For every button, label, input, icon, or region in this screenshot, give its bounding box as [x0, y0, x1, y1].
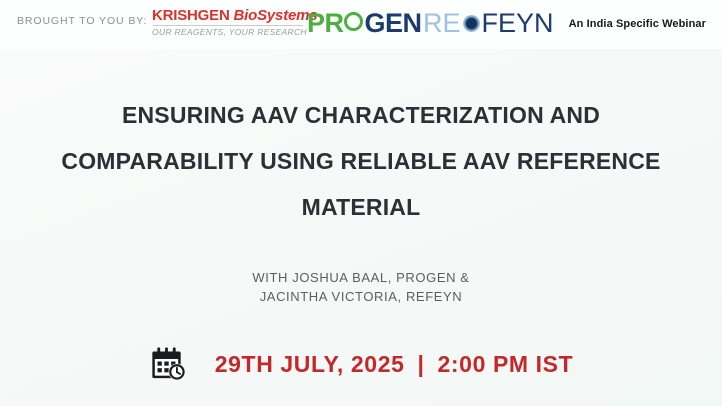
event-datetime-row: 29TH JULY, 2025 | 2:00 PM IST: [0, 344, 722, 384]
event-date: 29TH JULY, 2025: [215, 351, 405, 378]
speaker-line-2: JACINTHA VICTORIA, REFEYN: [0, 287, 722, 306]
krishgen-biosystems-word: BioSystems: [234, 7, 318, 24]
krishgen-logo-divider: [153, 25, 303, 26]
datetime-separator: |: [417, 351, 424, 378]
title-line-1: ENSURING AAV CHARACTERIZATION AND: [0, 92, 722, 138]
krishgen-name-part3: SHGEN: [177, 7, 229, 24]
refeyn-dot-icon: [463, 15, 480, 32]
progen-gen-text: GEN: [365, 10, 422, 37]
refeyn-re-text: RE: [423, 10, 461, 37]
progen-logo: PR GEN: [307, 8, 422, 38]
refeyn-logo: RE FEYN: [423, 8, 554, 38]
title-line-2: COMPARABILITY USING RELIABLE AAV REFEREN…: [0, 138, 722, 184]
refeyn-feyn-text: FEYN: [482, 10, 554, 37]
header-band: BROUGHT TO YOU BY: KRISHGEN BioSystems O…: [0, 0, 722, 49]
page-title: ENSURING AAV CHARACTERIZATION AND COMPAR…: [0, 92, 722, 230]
krishgen-logo-wordmark: KRISHGEN BioSystems: [152, 8, 304, 23]
progen-pr-text: PR: [307, 10, 344, 37]
krishgen-name-part1: KR: [152, 7, 173, 24]
speaker-line-1: WITH JOSHUA BAAL, PROGEN &: [0, 268, 722, 287]
krishgen-biosystems-logo: KRISHGEN BioSystems OUR REAGENTS, YOUR R…: [152, 8, 304, 37]
krishgen-tagline: OUR REAGENTS, YOUR RESEARCH: [152, 28, 304, 37]
calendar-clock-icon: [149, 344, 189, 384]
brought-to-you-by-label: BROUGHT TO YOU BY:: [17, 15, 147, 27]
progen-o-circle-icon: [344, 12, 367, 35]
title-line-3: MATERIAL: [0, 184, 722, 230]
webinar-promo-slide: BROUGHT TO YOU BY: KRISHGEN BioSystems O…: [0, 0, 722, 406]
event-datetime-text: 29TH JULY, 2025 | 2:00 PM IST: [215, 351, 573, 378]
event-time: 2:00 PM IST: [438, 351, 574, 378]
india-specific-webinar-note: An India Specific Webinar: [569, 18, 706, 30]
speakers-block: WITH JOSHUA BAAL, PROGEN & JACINTHA VICT…: [0, 268, 722, 306]
